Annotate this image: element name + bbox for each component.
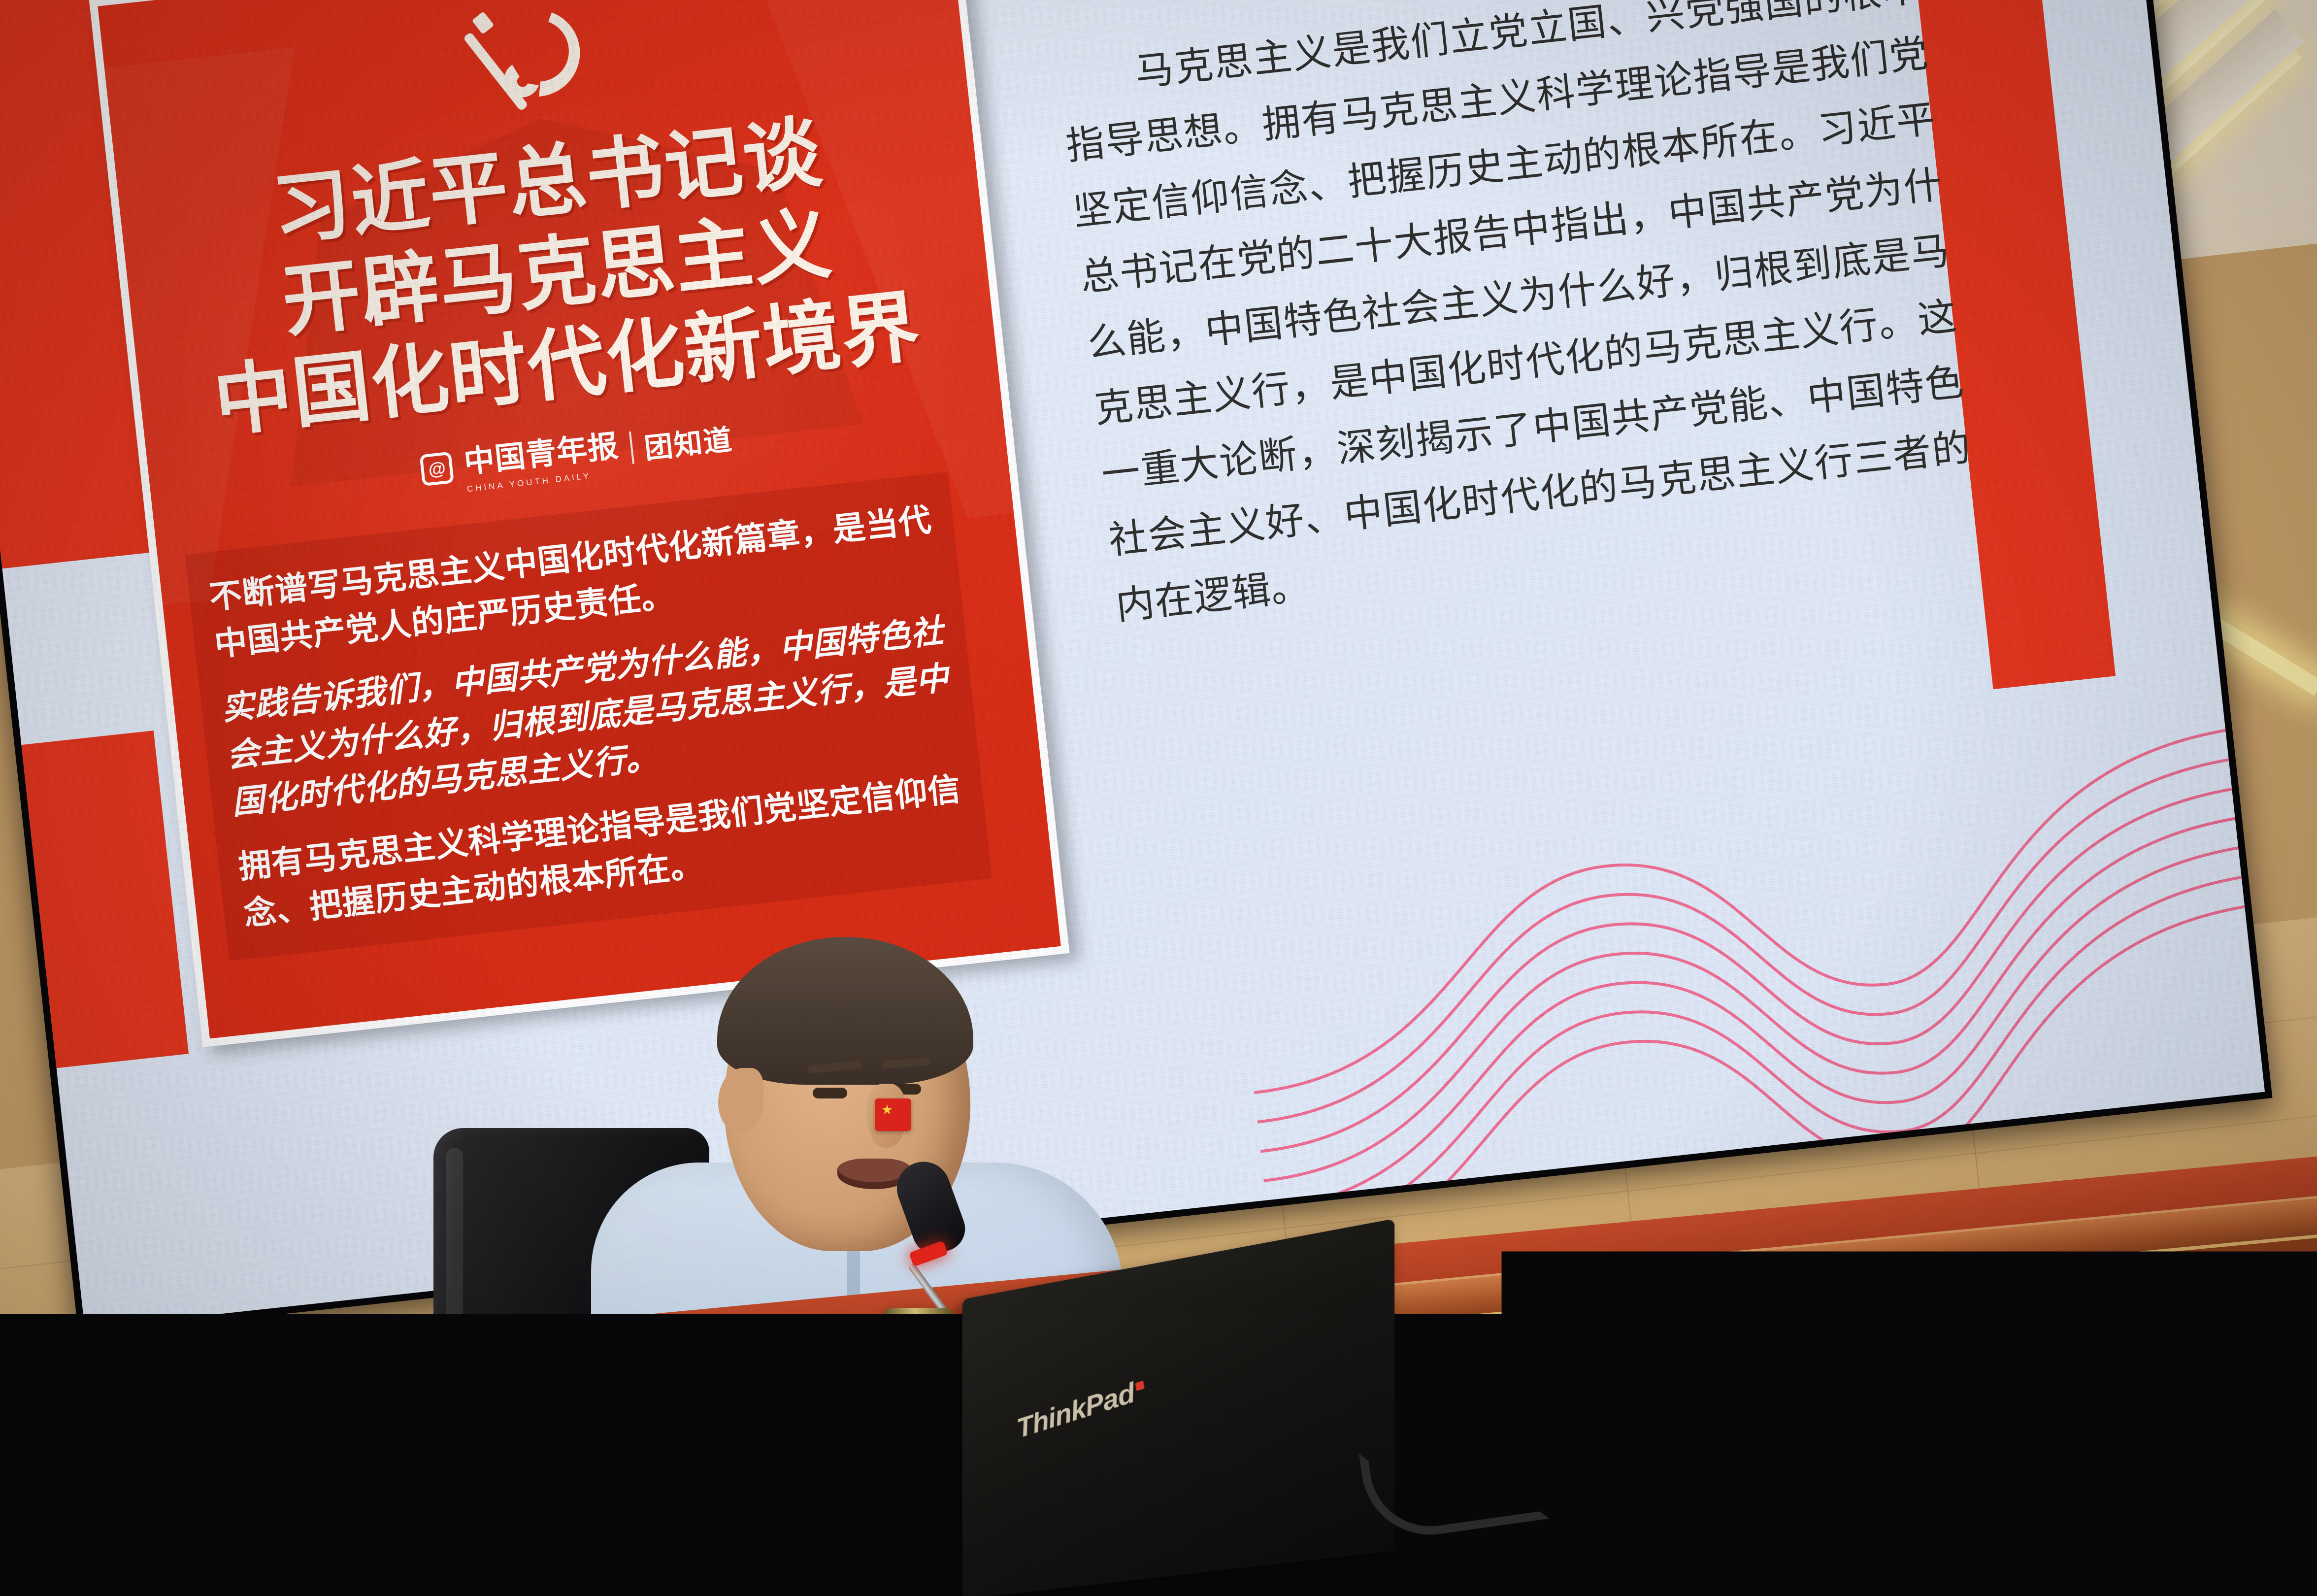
smartphone[interactable] xyxy=(465,1475,574,1544)
presenter-eye xyxy=(813,1088,847,1098)
eyeglass-lens-right xyxy=(786,1489,860,1553)
poster-quote-box: 不断谱写马克思主义中国化时代化新篇章，是当代中国共产党人的庄严历史责任。 实践告… xyxy=(185,472,993,961)
logo-divider xyxy=(629,432,634,464)
photo-scene: 习近平新时代中国特色社会主义思想的世界观和方法论 （一）开辟马克思主义中国化时代… xyxy=(0,0,2317,1596)
eyeglass-lens-left xyxy=(706,1498,781,1563)
flask-cap xyxy=(882,1308,956,1355)
slide-accent-left-bottom xyxy=(7,731,189,1070)
at-symbol-icon: @ xyxy=(420,452,455,487)
gold-vacuum-flask[interactable] xyxy=(882,1308,956,1596)
cpc-party-member-pin xyxy=(875,1098,911,1131)
presenter-ear xyxy=(718,1068,763,1132)
thinkpad-logo: ThinkPad xyxy=(1015,1373,1147,1445)
poster-card: 习近平总书记谈 开辟马克思主义 中国化时代化新境界 @ 中国青年报 CHINA … xyxy=(89,0,1070,1047)
laptop-lid: ThinkPad xyxy=(962,1219,1394,1596)
channel-name-cn: 团知道 xyxy=(642,416,734,467)
slide-body-text: 马克思主义是我们立党立国、兴党强国的根本指导思想。拥有马克思主义科学理论指导是我… xyxy=(1056,0,1982,639)
thinkpad-laptop[interactable]: ThinkPad xyxy=(951,1261,1443,1596)
cpc-hammer-sickle-emblem xyxy=(455,0,615,133)
